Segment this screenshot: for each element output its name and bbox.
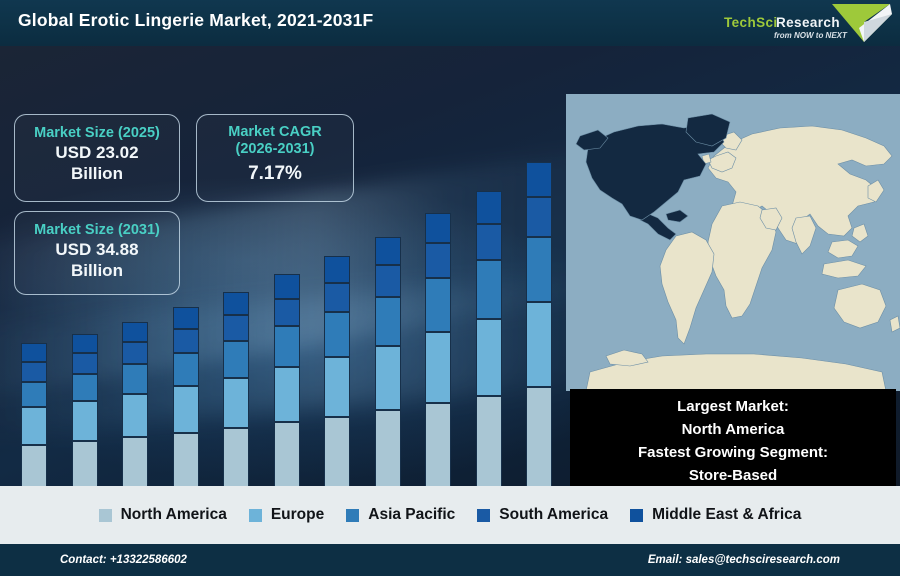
bar-segment: [173, 433, 199, 486]
stacked-bar: [324, 256, 350, 486]
bar-group: [216, 132, 256, 486]
bar-segment: [72, 441, 98, 486]
techsci-research-logo: TechSci Research from NOW to NEXT: [714, 0, 896, 46]
bar-segment: [21, 343, 47, 361]
stacked-bar: [274, 274, 300, 486]
world-map: [566, 94, 900, 391]
bar-segment: [324, 357, 350, 417]
main-panel: Market Size (2025) USD 23.02 Billion Mar…: [0, 46, 900, 486]
bar-segment: [526, 237, 552, 302]
bar-segment: [375, 237, 401, 265]
fastest-segment-label: Fastest Growing Segment:: [638, 442, 828, 465]
bar-segment: [21, 382, 47, 408]
bar-segment: [324, 283, 350, 313]
bar-segment: [72, 353, 98, 374]
bar-group: [267, 132, 307, 486]
bar-segment: [223, 341, 249, 378]
bar-segment: [375, 265, 401, 297]
bar-group: [469, 132, 509, 486]
bar-segment: [122, 364, 148, 394]
largest-market-label: Largest Market:: [677, 396, 789, 419]
bar-group: [317, 132, 357, 486]
footer-bar: Contact: +13322586602 Email: sales@techs…: [0, 544, 900, 576]
header-bar: Global Erotic Lingerie Market, 2021-2031…: [0, 0, 900, 46]
legend-label: Asia Pacific: [368, 506, 455, 524]
bar-segment: [122, 322, 148, 342]
footer-contact: Contact: +13322586602: [60, 554, 187, 566]
infographic-page: Global Erotic Lingerie Market, 2021-2031…: [0, 0, 900, 576]
bar-group: [115, 132, 155, 486]
bar-segment: [72, 334, 98, 353]
stacked-bar-chart: 202120222023202420252026E2027F2028F2029F…: [0, 92, 566, 486]
bar-segment: [274, 326, 300, 367]
legend-item[interactable]: Asia Pacific: [346, 506, 455, 524]
bar-segment: [223, 378, 249, 428]
bar-segment: [21, 407, 47, 445]
legend-label: Middle East & Africa: [652, 506, 801, 524]
bar-segment: [324, 312, 350, 357]
largest-market-value: North America: [682, 419, 785, 442]
bar-group: [166, 132, 206, 486]
legend-color-swatch: [249, 509, 262, 522]
bar-group: [65, 132, 105, 486]
bar-segment: [274, 274, 300, 299]
legend-label: Europe: [271, 506, 324, 524]
legend-color-swatch: [630, 509, 643, 522]
chart-bars: [14, 132, 559, 486]
bar-segment: [173, 386, 199, 432]
key-insights-box: Largest Market: North America Fastest Gr…: [570, 389, 896, 486]
bar-group: [368, 132, 408, 486]
bar-segment: [526, 302, 552, 387]
bar-group: [418, 132, 458, 486]
bar-segment: [526, 162, 552, 197]
bar-segment: [223, 428, 249, 486]
bar-segment: [526, 197, 552, 237]
bar-segment: [425, 332, 451, 403]
bar-segment: [425, 403, 451, 486]
stacked-bar: [223, 292, 249, 486]
bar-segment: [375, 297, 401, 346]
logo-name-part1: TechSci: [724, 15, 778, 30]
bar-segment: [72, 401, 98, 441]
legend-label: North America: [121, 506, 227, 524]
bar-segment: [425, 243, 451, 277]
stacked-bar: [425, 213, 451, 486]
bar-segment: [21, 445, 47, 486]
legend-color-swatch: [346, 509, 359, 522]
bar-segment: [122, 342, 148, 364]
bar-segment: [425, 213, 451, 243]
bar-segment: [476, 224, 502, 261]
bar-segment: [223, 292, 249, 315]
legend-item[interactable]: Europe: [249, 506, 324, 524]
bar-segment: [476, 191, 502, 224]
bar-segment: [274, 367, 300, 422]
bar-segment: [526, 387, 552, 486]
bar-segment: [476, 396, 502, 486]
bar-segment: [21, 362, 47, 382]
bar-segment: [173, 353, 199, 387]
stacked-bar: [122, 322, 148, 486]
stacked-bar: [476, 191, 502, 486]
stacked-bar: [72, 334, 98, 486]
stacked-bar: [173, 307, 199, 486]
bar-segment: [476, 319, 502, 396]
bar-segment: [425, 278, 451, 332]
legend-item[interactable]: North America: [99, 506, 227, 524]
bar-segment: [173, 329, 199, 353]
bar-segment: [122, 437, 148, 486]
legend-label: South America: [499, 506, 608, 524]
bar-group: [519, 132, 559, 486]
bar-group: [14, 132, 54, 486]
legend-item[interactable]: Middle East & Africa: [630, 506, 801, 524]
bar-segment: [122, 394, 148, 437]
legend-item[interactable]: South America: [477, 506, 608, 524]
stacked-bar: [526, 162, 552, 486]
bar-segment: [274, 422, 300, 486]
stacked-bar: [375, 237, 401, 486]
bar-segment: [274, 299, 300, 327]
bar-segment: [476, 260, 502, 319]
bar-segment: [324, 256, 350, 282]
logo-tagline: from NOW to NEXT: [774, 31, 848, 40]
legend-color-swatch: [477, 509, 490, 522]
bar-segment: [324, 417, 350, 486]
bar-segment: [223, 315, 249, 341]
bar-segment: [375, 346, 401, 411]
footer-email: Email: sales@techsciresearch.com: [648, 554, 840, 566]
logo-name-part2: Research: [776, 15, 840, 30]
chart-legend: North AmericaEuropeAsia PacificSouth Ame…: [0, 486, 900, 544]
bar-segment: [173, 307, 199, 329]
bar-segment: [375, 410, 401, 486]
fastest-segment-value: Store-Based: [689, 465, 777, 486]
legend-color-swatch: [99, 509, 112, 522]
stacked-bar: [21, 343, 47, 486]
page-title: Global Erotic Lingerie Market, 2021-2031…: [18, 10, 373, 31]
bar-segment: [72, 374, 98, 402]
